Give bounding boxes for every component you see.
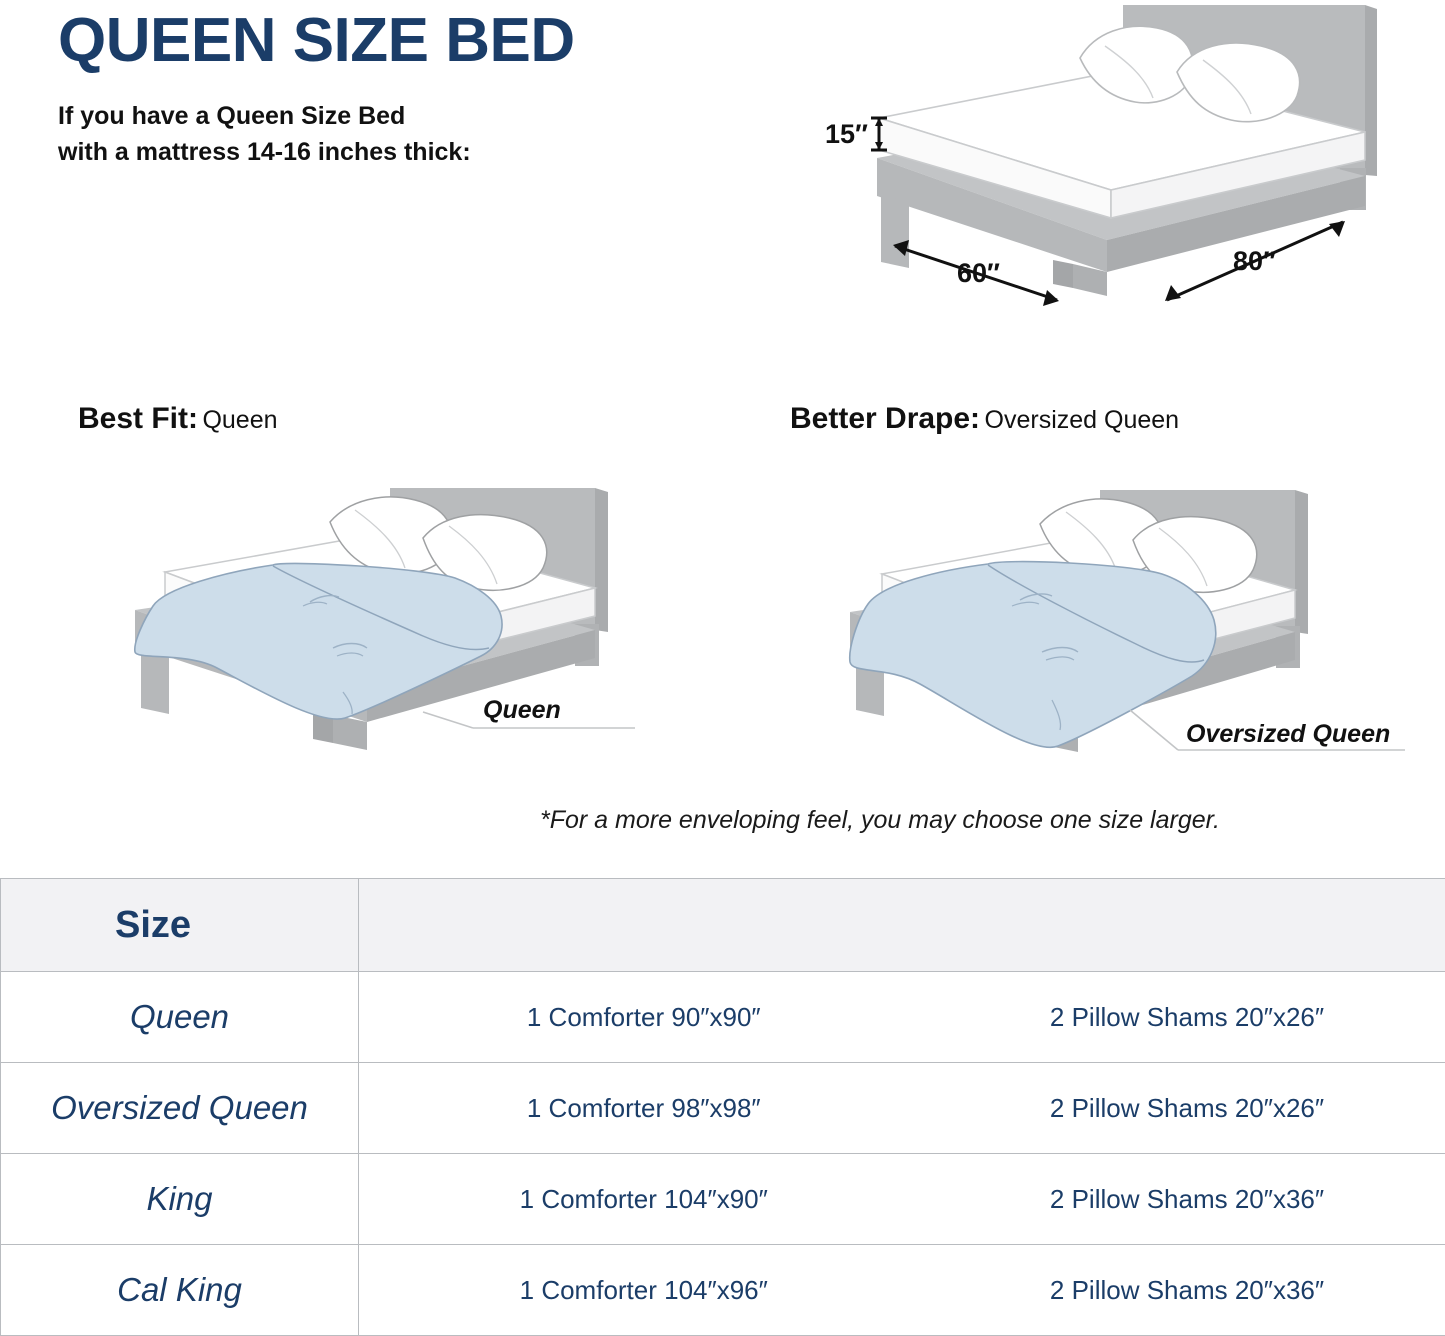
hero-height-label: 15″	[825, 119, 868, 149]
row-size-label: Queen	[1, 972, 359, 1063]
subtitle-line-2: with a mattress 14-16 inches thick:	[58, 135, 818, 171]
page-title: QUEEN SIZE BED	[58, 8, 818, 73]
row-comforter: 1 Comforter 104″x90″	[359, 1154, 929, 1245]
row-shams: 2 Pillow Shams 20″x36″	[929, 1154, 1445, 1245]
footnote-text: *For a more enveloping feel, you may cho…	[540, 806, 1420, 835]
row-comforter: 1 Comforter 98″x98″	[359, 1063, 929, 1154]
row-comforter: 1 Comforter 90″x90″	[359, 972, 929, 1063]
better-drape-label: Better Drape:	[790, 402, 980, 435]
size-chart-table: Size Queen 1 Comforter 90″x90″ 2 Pillow …	[0, 878, 1445, 1336]
hero-width-label: 60″	[957, 258, 1000, 288]
better-drape-heading: Better Drape: Oversized Queen	[790, 402, 1179, 436]
row-comforter: 1 Comforter 104″x96″	[359, 1245, 929, 1336]
row-size-label: Oversized Queen	[1, 1063, 359, 1154]
best-fit-callout-label: Queen	[483, 696, 561, 724]
hero-length-label: 80″	[1233, 246, 1276, 276]
better-drape-bed-diagram: Oversized Queen	[830, 460, 1420, 800]
row-shams: 2 Pillow Shams 20″x26″	[929, 972, 1445, 1063]
subtitle-line-1: If you have a Queen Size Bed	[58, 99, 818, 135]
table-header-row: Size	[1, 879, 1445, 972]
row-shams: 2 Pillow Shams 20″x26″	[929, 1063, 1445, 1154]
table-header-blank	[359, 879, 1445, 972]
table-row: King 1 Comforter 104″x90″ 2 Pillow Shams…	[1, 1154, 1445, 1245]
table-row: Queen 1 Comforter 90″x90″ 2 Pillow Shams…	[1, 972, 1445, 1063]
best-fit-heading: Best Fit: Queen	[78, 402, 278, 436]
header-block: QUEEN SIZE BED If you have a Queen Size …	[58, 8, 818, 170]
subtitle: If you have a Queen Size Bed with a matt…	[58, 99, 818, 170]
best-fit-label: Best Fit:	[78, 402, 198, 435]
row-shams: 2 Pillow Shams 20″x36″	[929, 1245, 1445, 1336]
table-row: Oversized Queen 1 Comforter 98″x98″ 2 Pi…	[1, 1063, 1445, 1154]
best-fit-bed-diagram: Queen	[105, 460, 665, 800]
better-drape-callout-label: Oversized Queen	[1186, 720, 1390, 748]
hero-bed-diagram: 15″ 60″ 80″	[805, 0, 1445, 330]
row-size-label: Cal King	[1, 1245, 359, 1336]
table-row: Cal King 1 Comforter 104″x96″ 2 Pillow S…	[1, 1245, 1445, 1336]
table-header-size: Size	[1, 879, 359, 972]
best-fit-value: Queen	[202, 406, 277, 434]
better-drape-value: Oversized Queen	[985, 406, 1180, 434]
row-size-label: King	[1, 1154, 359, 1245]
